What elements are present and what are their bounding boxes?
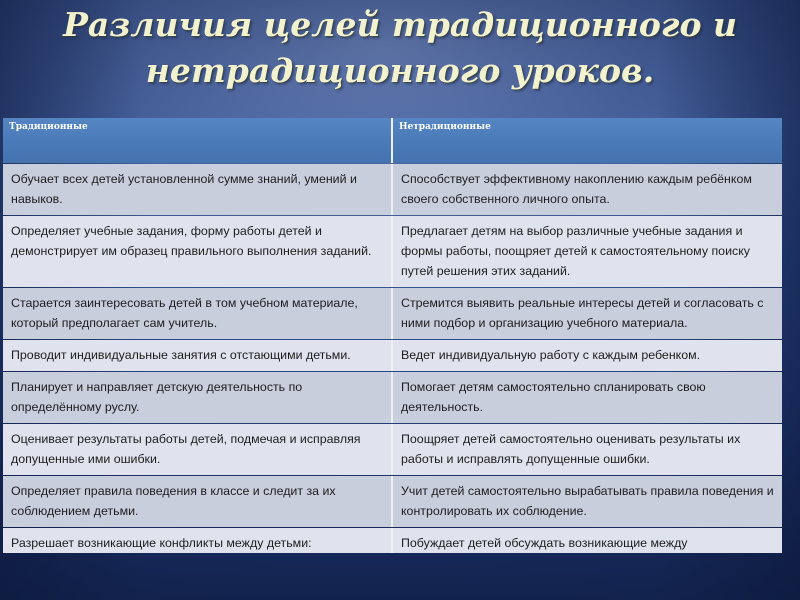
table-row: Определяет учебные задания, форму работы…: [3, 216, 782, 287]
table-header: Традиционные Нетрадиционные: [3, 118, 782, 163]
table-row: Определяет правила поведения в классе и …: [3, 476, 782, 527]
cell-traditional: Определяет учебные задания, форму работы…: [3, 216, 393, 287]
table-row: Старается заинтересовать детей в том уче…: [3, 288, 782, 339]
column-header-nontraditional: Нетрадиционные: [393, 118, 782, 163]
table-row: Проводит индивидуальные занятия с отстаю…: [3, 340, 782, 371]
cell-traditional: Проводит индивидуальные занятия с отстаю…: [3, 340, 393, 371]
cell-traditional: Разрешает возникающие конфликты между де…: [3, 528, 393, 553]
table-row: Обучает всех детей установленной сумме з…: [3, 164, 782, 215]
table-row: Оценивает результаты работы детей, подме…: [3, 424, 782, 475]
slide-canvas: Различия целей традиционного и нетрадици…: [0, 0, 800, 600]
cell-nontraditional: Способствует эффективному накоплению каж…: [393, 164, 782, 215]
cell-nontraditional: Стремится выявить реальные интересы дете…: [393, 288, 782, 339]
comparison-table-container: Традиционные Нетрадиционные Обучает всех…: [3, 117, 782, 554]
cell-nontraditional: Учит детей самостоятельно вырабатывать п…: [393, 476, 782, 527]
cell-traditional: Оценивает результаты работы детей, подме…: [3, 424, 393, 475]
comparison-table: Традиционные Нетрадиционные Обучает всех…: [3, 117, 782, 554]
table-header-row: Традиционные Нетрадиционные: [3, 118, 782, 163]
cell-traditional: Старается заинтересовать детей в том уче…: [3, 288, 393, 339]
cell-nontraditional: Ведет индивидуальную работу с каждым реб…: [393, 340, 782, 371]
cell-traditional: Обучает всех детей установленной сумме з…: [3, 164, 393, 215]
cell-nontraditional: Помогает детям самостоятельно спланирова…: [393, 372, 782, 423]
table-row: Разрешает возникающие конфликты между де…: [3, 528, 782, 553]
table-row: Планирует и направляет детскую деятельно…: [3, 372, 782, 423]
cell-traditional: Планирует и направляет детскую деятельно…: [3, 372, 393, 423]
cell-nontraditional: Поощряет детей самостоятельно оценивать …: [393, 424, 782, 475]
cell-traditional: Определяет правила поведения в классе и …: [3, 476, 393, 527]
cell-nontraditional: Предлагает детям на выбор различные учеб…: [393, 216, 782, 287]
page-title: Различия целей традиционного и нетрадици…: [20, 2, 780, 94]
table-body: Обучает всех детей установленной сумме з…: [3, 164, 782, 553]
column-header-traditional: Традиционные: [3, 118, 393, 163]
cell-nontraditional: Побуждает детей обсуждать возникающие ме…: [393, 528, 782, 553]
